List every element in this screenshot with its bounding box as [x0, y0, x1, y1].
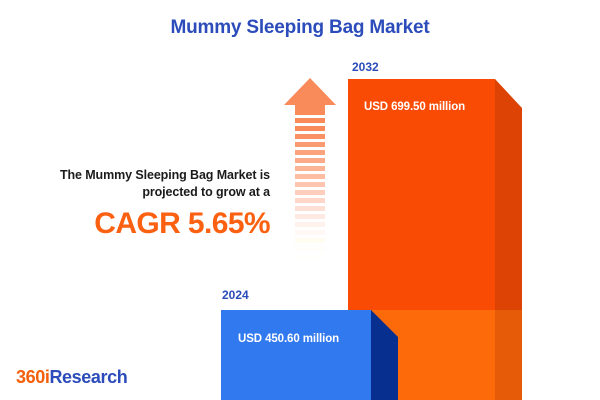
infographic-canvas: Mummy Sleeping Bag Market The Mummy Slee… — [0, 0, 600, 400]
bar-value-label-2024: USD 450.60 million — [238, 333, 339, 345]
bar-chart: 2032 USD 699.50 million 2024 USD 450.60 … — [0, 0, 600, 400]
brand-logo-mark: 360i — [16, 367, 49, 387]
brand-logo-word: Research — [49, 367, 127, 387]
bar-2024[interactable]: USD 450.60 million — [221, 310, 371, 400]
bar-year-label-2032: 2032 — [352, 60, 379, 74]
bar-year-label-2024: 2024 — [222, 288, 249, 302]
bar-2032-overlap-side — [495, 310, 522, 400]
bar-value-label-2032: USD 699.50 million — [364, 101, 465, 113]
brand-logo[interactable]: 360iResearch — [16, 367, 127, 388]
bar-2024-front-face — [221, 310, 371, 400]
